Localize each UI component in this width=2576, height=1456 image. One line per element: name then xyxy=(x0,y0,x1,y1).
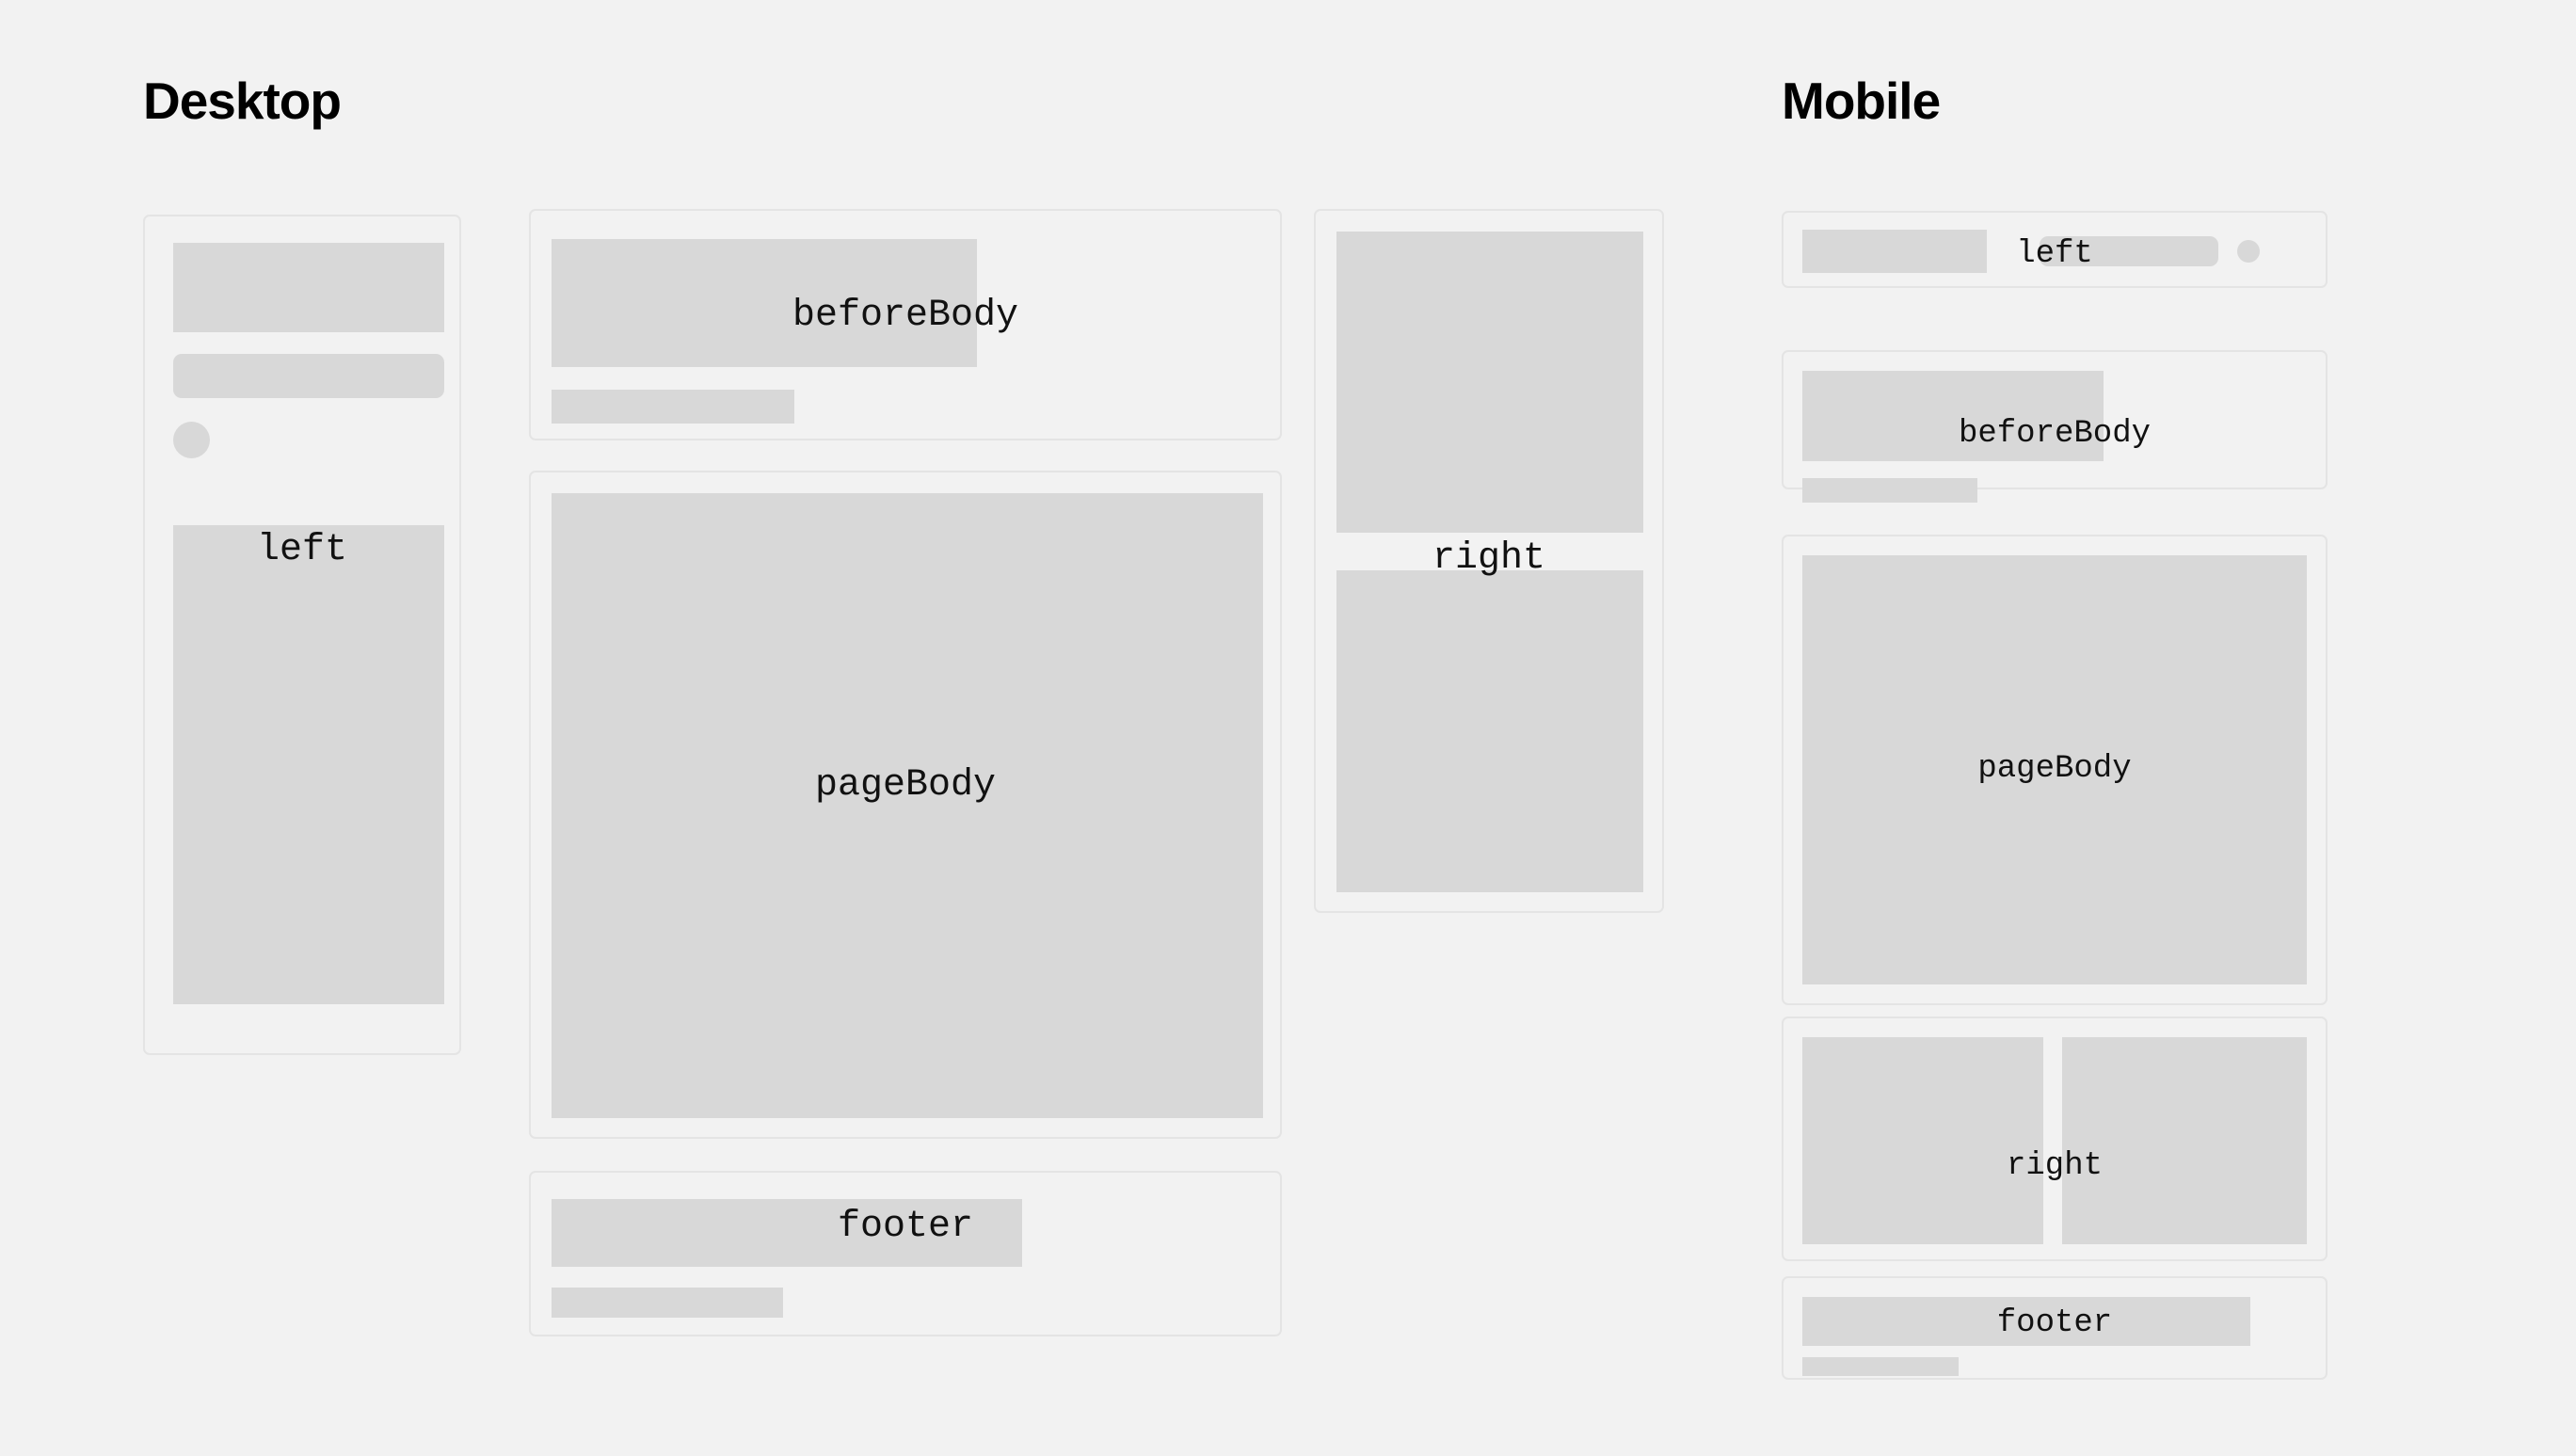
placeholder-block-small xyxy=(552,390,794,424)
placeholder-block-top xyxy=(1336,232,1643,533)
desktop-region-footer[interactable] xyxy=(529,1171,1282,1336)
placeholder-avatar-circle xyxy=(173,422,210,458)
placeholder-pill xyxy=(2040,236,2218,266)
placeholder-block xyxy=(173,243,444,332)
layout-preview-canvas: Desktop left beforeBody pageBody footer … xyxy=(0,0,2576,1456)
mobile-region-left[interactable] xyxy=(1782,211,2328,288)
placeholder-block-small xyxy=(1802,1357,1959,1376)
mobile-region-right[interactable] xyxy=(1782,1016,2328,1261)
placeholder-pill xyxy=(173,354,444,398)
mobile-region-pagebody[interactable] xyxy=(1782,535,2328,1005)
placeholder-block xyxy=(552,1199,1022,1267)
placeholder-block-left xyxy=(1802,1037,2043,1244)
placeholder-block-small xyxy=(552,1288,783,1318)
desktop-region-left[interactable] xyxy=(143,215,461,1055)
mobile-region-beforebody[interactable] xyxy=(1782,350,2328,489)
placeholder-block-tall xyxy=(173,525,444,1004)
placeholder-block xyxy=(1802,1297,2250,1346)
placeholder-block-right xyxy=(2062,1037,2307,1244)
desktop-section-title: Desktop xyxy=(143,75,341,127)
desktop-region-pagebody[interactable] xyxy=(529,471,1282,1139)
placeholder-block-large xyxy=(552,493,1263,1118)
placeholder-block xyxy=(552,239,977,367)
placeholder-avatar-circle xyxy=(2237,240,2260,263)
placeholder-block-large xyxy=(1802,555,2307,984)
placeholder-block-small xyxy=(1802,478,1977,503)
placeholder-block-bottom xyxy=(1336,570,1643,892)
mobile-section-title: Mobile xyxy=(1782,75,1940,127)
placeholder-block xyxy=(1802,371,2104,461)
desktop-region-beforebody[interactable] xyxy=(529,209,1282,440)
desktop-region-right[interactable] xyxy=(1314,209,1664,913)
placeholder-block xyxy=(1802,230,1987,273)
mobile-region-footer[interactable] xyxy=(1782,1276,2328,1380)
